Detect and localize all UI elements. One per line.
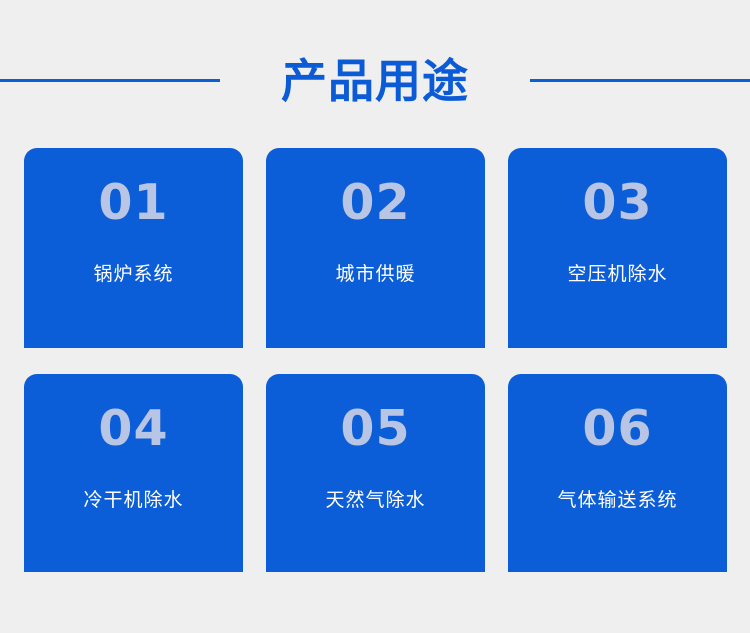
usage-card-grid: 01 锅炉系统 02 城市供暖 03 空压机除水 04 冷干机除水 05 天然气… xyxy=(24,148,727,572)
usage-card-01[interactable]: 01 锅炉系统 xyxy=(24,148,243,348)
card-row-1: 01 锅炉系统 02 城市供暖 03 空压机除水 xyxy=(24,148,727,348)
card-number: 05 xyxy=(266,400,485,458)
section-header: 产品用途 xyxy=(0,0,750,140)
card-label: 空压机除水 xyxy=(508,260,727,288)
product-usage-page: 产品用途 01 锅炉系统 02 城市供暖 03 空压机除水 04 冷干机除水 xyxy=(0,0,750,633)
usage-card-06[interactable]: 06 气体输送系统 xyxy=(508,374,727,572)
usage-card-02[interactable]: 02 城市供暖 xyxy=(266,148,485,348)
usage-card-05[interactable]: 05 天然气除水 xyxy=(266,374,485,572)
usage-card-03[interactable]: 03 空压机除水 xyxy=(508,148,727,348)
card-number: 01 xyxy=(24,174,243,232)
card-number: 04 xyxy=(24,400,243,458)
usage-card-04[interactable]: 04 冷干机除水 xyxy=(24,374,243,572)
card-label: 天然气除水 xyxy=(266,486,485,514)
card-row-2: 04 冷干机除水 05 天然气除水 06 气体输送系统 xyxy=(24,374,727,572)
card-label: 锅炉系统 xyxy=(24,260,243,288)
title-rule-right xyxy=(530,79,750,82)
card-number: 06 xyxy=(508,400,727,458)
card-label: 城市供暖 xyxy=(266,260,485,288)
card-label: 气体输送系统 xyxy=(508,486,727,514)
card-number: 03 xyxy=(508,174,727,232)
card-label: 冷干机除水 xyxy=(24,486,243,514)
card-number: 02 xyxy=(266,174,485,232)
